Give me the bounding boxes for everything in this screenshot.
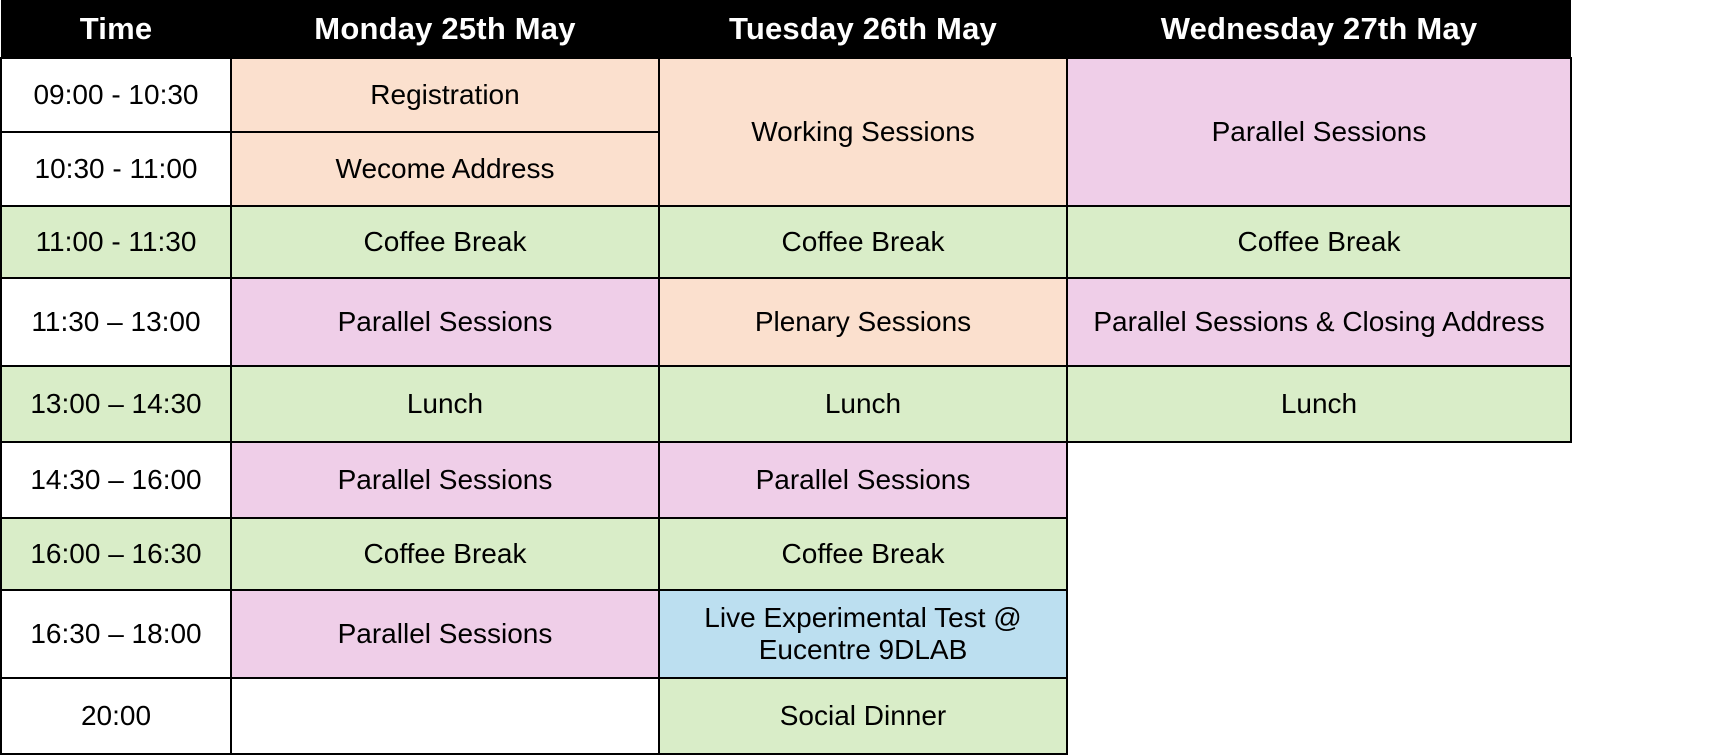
session-cell-monday	[231, 678, 659, 754]
table-row: 11:00 - 11:30 Coffee Break Coffee Break …	[1, 206, 1571, 278]
time-cell: 20:00	[1, 678, 231, 754]
session-cell-monday: Parallel Sessions	[231, 590, 659, 678]
table-row: 13:00 – 14:30 Lunch Lunch Lunch	[1, 366, 1571, 442]
session-cell-monday: Parallel Sessions	[231, 278, 659, 366]
session-cell-tuesday: Working Sessions	[659, 58, 1067, 206]
time-cell: 11:00 - 11:30	[1, 206, 231, 278]
column-header-time: Time	[1, 0, 231, 58]
time-cell: 09:00 - 10:30	[1, 58, 231, 132]
session-cell-tuesday: Parallel Sessions	[659, 442, 1067, 518]
session-cell-tuesday: Coffee Break	[659, 206, 1067, 278]
column-header-tuesday: Tuesday 26th May	[659, 0, 1067, 58]
time-cell: 11:30 – 13:00	[1, 278, 231, 366]
table-header: Time Monday 25th May Tuesday 26th May We…	[1, 0, 1571, 58]
time-cell: 10:30 - 11:00	[1, 132, 231, 206]
session-cell-tuesday: Live Experimental Test @ Eucentre 9DLAB	[659, 590, 1067, 678]
session-cell-wednesday: Lunch	[1067, 366, 1571, 442]
header-row: Time Monday 25th May Tuesday 26th May We…	[1, 0, 1571, 58]
session-cell-tuesday: Plenary Sessions	[659, 278, 1067, 366]
time-cell: 16:00 – 16:30	[1, 518, 231, 590]
session-cell-tuesday: Coffee Break	[659, 518, 1067, 590]
time-cell: 13:00 – 14:30	[1, 366, 231, 442]
table-row: 14:30 – 16:00 Parallel Sessions Parallel…	[1, 442, 1571, 518]
session-cell-wednesday: Coffee Break	[1067, 206, 1571, 278]
conference-schedule-table: Time Monday 25th May Tuesday 26th May We…	[0, 0, 1572, 755]
table-body: 09:00 - 10:30 Registration Working Sessi…	[1, 58, 1571, 754]
column-header-monday: Monday 25th May	[231, 0, 659, 58]
session-cell-monday: Coffee Break	[231, 518, 659, 590]
session-cell-wednesday: Parallel Sessions & Closing Address	[1067, 278, 1571, 366]
session-cell-tuesday: Lunch	[659, 366, 1067, 442]
session-cell-monday: Parallel Sessions	[231, 442, 659, 518]
session-cell-monday: Wecome Address	[231, 132, 659, 206]
session-cell-wednesday-empty	[1067, 442, 1571, 754]
session-cell-monday: Registration	[231, 58, 659, 132]
column-header-wednesday: Wednesday 27th May	[1067, 0, 1571, 58]
session-cell-monday: Lunch	[231, 366, 659, 442]
time-cell: 14:30 – 16:00	[1, 442, 231, 518]
table-row: 09:00 - 10:30 Registration Working Sessi…	[1, 58, 1571, 132]
session-cell-tuesday: Social Dinner	[659, 678, 1067, 754]
table-row: 11:30 – 13:00 Parallel Sessions Plenary …	[1, 278, 1571, 366]
schedule-container: Time Monday 25th May Tuesday 26th May We…	[0, 0, 1570, 733]
session-cell-monday: Coffee Break	[231, 206, 659, 278]
time-cell: 16:30 – 18:00	[1, 590, 231, 678]
session-cell-wednesday: Parallel Sessions	[1067, 58, 1571, 206]
